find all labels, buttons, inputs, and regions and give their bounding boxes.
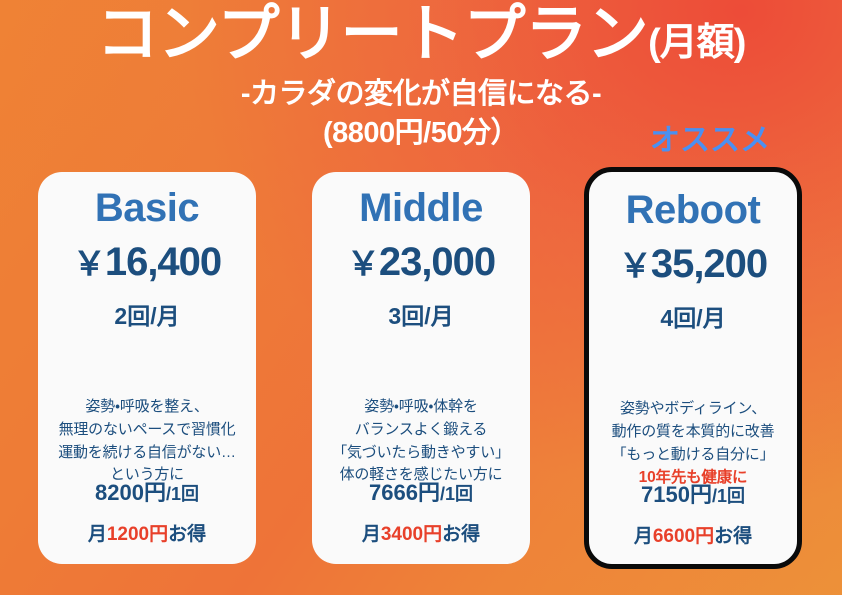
plan-card-middle[interactable]: Middle ￥23,000 3回/月 姿勢・呼吸・体幹を バランスよく鍛える … — [312, 172, 530, 564]
plan-frequency-basic: 2回/月 — [44, 304, 250, 329]
plan-title-middle: Middle — [318, 186, 524, 230]
plan-description-reboot: 姿勢やボディライン、 動作の質を本質的に改善 「もっと動ける自分に」 — [589, 398, 797, 466]
plan-unit-price-value-middle: 7666円 — [369, 480, 440, 505]
pricing-poster: コンプリートプラン(月額) -カラダの変化が自信になる- (8800円/50分）… — [0, 0, 842, 595]
plan-price-middle: ￥23,000 — [318, 240, 524, 284]
plan-price-value-reboot: 35,200 — [651, 242, 767, 286]
plan-unit-price-value-reboot: 7150円 — [641, 482, 712, 507]
plan-title-reboot: Reboot — [595, 188, 791, 232]
plan-savings-reboot: 月6600円お得 — [589, 527, 797, 548]
plan-savings-basic: 月1200円お得 — [38, 525, 256, 546]
plan-description-block-middle: 姿勢・呼吸・体幹を バランスよく鍛える 「気づいたら動きやすい」 体の軽さを感じ… — [312, 374, 530, 487]
plan-savings-prefix-basic: 月 — [88, 524, 107, 545]
plan-savings-middle: 月3400円お得 — [312, 525, 530, 546]
page-title: コンプリートプラン(月額) — [0, 0, 842, 67]
plan-price-reboot: ￥35,200 — [595, 242, 791, 286]
plan-savings-suffix-reboot: お得 — [714, 526, 752, 547]
poster-subtitle: -カラダの変化が自信になる- — [0, 77, 842, 112]
plan-unit-price-value-basic: 8200円 — [95, 480, 166, 505]
plan-description-basic: 姿勢・呼吸を整え、 無理のないペースで習慣化 運動を続ける自信がない… という方… — [38, 396, 256, 487]
plan-savings-amount-middle: 3400円 — [381, 524, 442, 545]
plan-savings-suffix-basic: お得 — [168, 524, 206, 545]
page-title-main: コンプリートプラン — [97, 0, 649, 69]
plan-savings-prefix-middle: 月 — [362, 524, 381, 545]
plan-description-middle: 姿勢・呼吸・体幹を バランスよく鍛える 「気づいたら動きやすい」 体の軽さを感じ… — [312, 396, 530, 487]
plan-savings-suffix-middle: お得 — [442, 524, 480, 545]
plan-description-block-basic: 姿勢・呼吸を整え、 無理のないペースで習慣化 運動を続ける自信がない… という方… — [38, 374, 256, 487]
plan-unit-price-middle: 7666円/1回 — [312, 481, 530, 505]
yen-symbol-icon: ￥ — [347, 245, 379, 282]
plan-price-value-middle: 23,000 — [379, 240, 495, 284]
recommended-badge: オススメ — [600, 126, 820, 156]
plan-frequency-middle: 3回/月 — [318, 304, 524, 329]
yen-symbol-icon: ￥ — [73, 245, 105, 282]
plan-card-list: Basic ￥16,400 2回/月 姿勢・呼吸を整え、 無理のないペースで習慣… — [0, 172, 842, 572]
page-title-suffix: (月額) — [648, 22, 745, 64]
plan-price-basic: ￥16,400 — [44, 240, 250, 284]
plan-footer-reboot: 7150円/1回 月6600円お得 — [589, 483, 797, 548]
plan-footer-basic: 8200円/1回 月1200円お得 — [38, 481, 256, 546]
plan-unit-price-suffix-middle: /1回 — [440, 484, 473, 504]
plan-footer-middle: 7666円/1回 月3400円お得 — [312, 481, 530, 546]
plan-description-block-reboot: 姿勢やボディライン、 動作の質を本質的に改善 「もっと動ける自分に」 10年先も… — [589, 376, 797, 490]
plan-card-basic[interactable]: Basic ￥16,400 2回/月 姿勢・呼吸を整え、 無理のないペースで習慣… — [38, 172, 256, 564]
plan-unit-price-reboot: 7150円/1回 — [589, 483, 797, 507]
yen-symbol-icon: ￥ — [619, 247, 651, 284]
plan-price-value-basic: 16,400 — [105, 240, 221, 284]
plan-unit-price-suffix-basic: /1回 — [166, 484, 199, 504]
plan-card-reboot[interactable]: Reboot ￥35,200 4回/月 姿勢やボディライン、 動作の質を本質的に… — [584, 167, 802, 569]
plan-savings-prefix-reboot: 月 — [634, 526, 653, 547]
plan-unit-price-basic: 8200円/1回 — [38, 481, 256, 505]
plan-savings-amount-basic: 1200円 — [107, 524, 168, 545]
plan-unit-price-suffix-reboot: /1回 — [712, 486, 745, 506]
plan-savings-amount-reboot: 6600円 — [653, 526, 714, 547]
plan-frequency-reboot: 4回/月 — [595, 306, 791, 331]
plan-title-basic: Basic — [44, 186, 250, 230]
